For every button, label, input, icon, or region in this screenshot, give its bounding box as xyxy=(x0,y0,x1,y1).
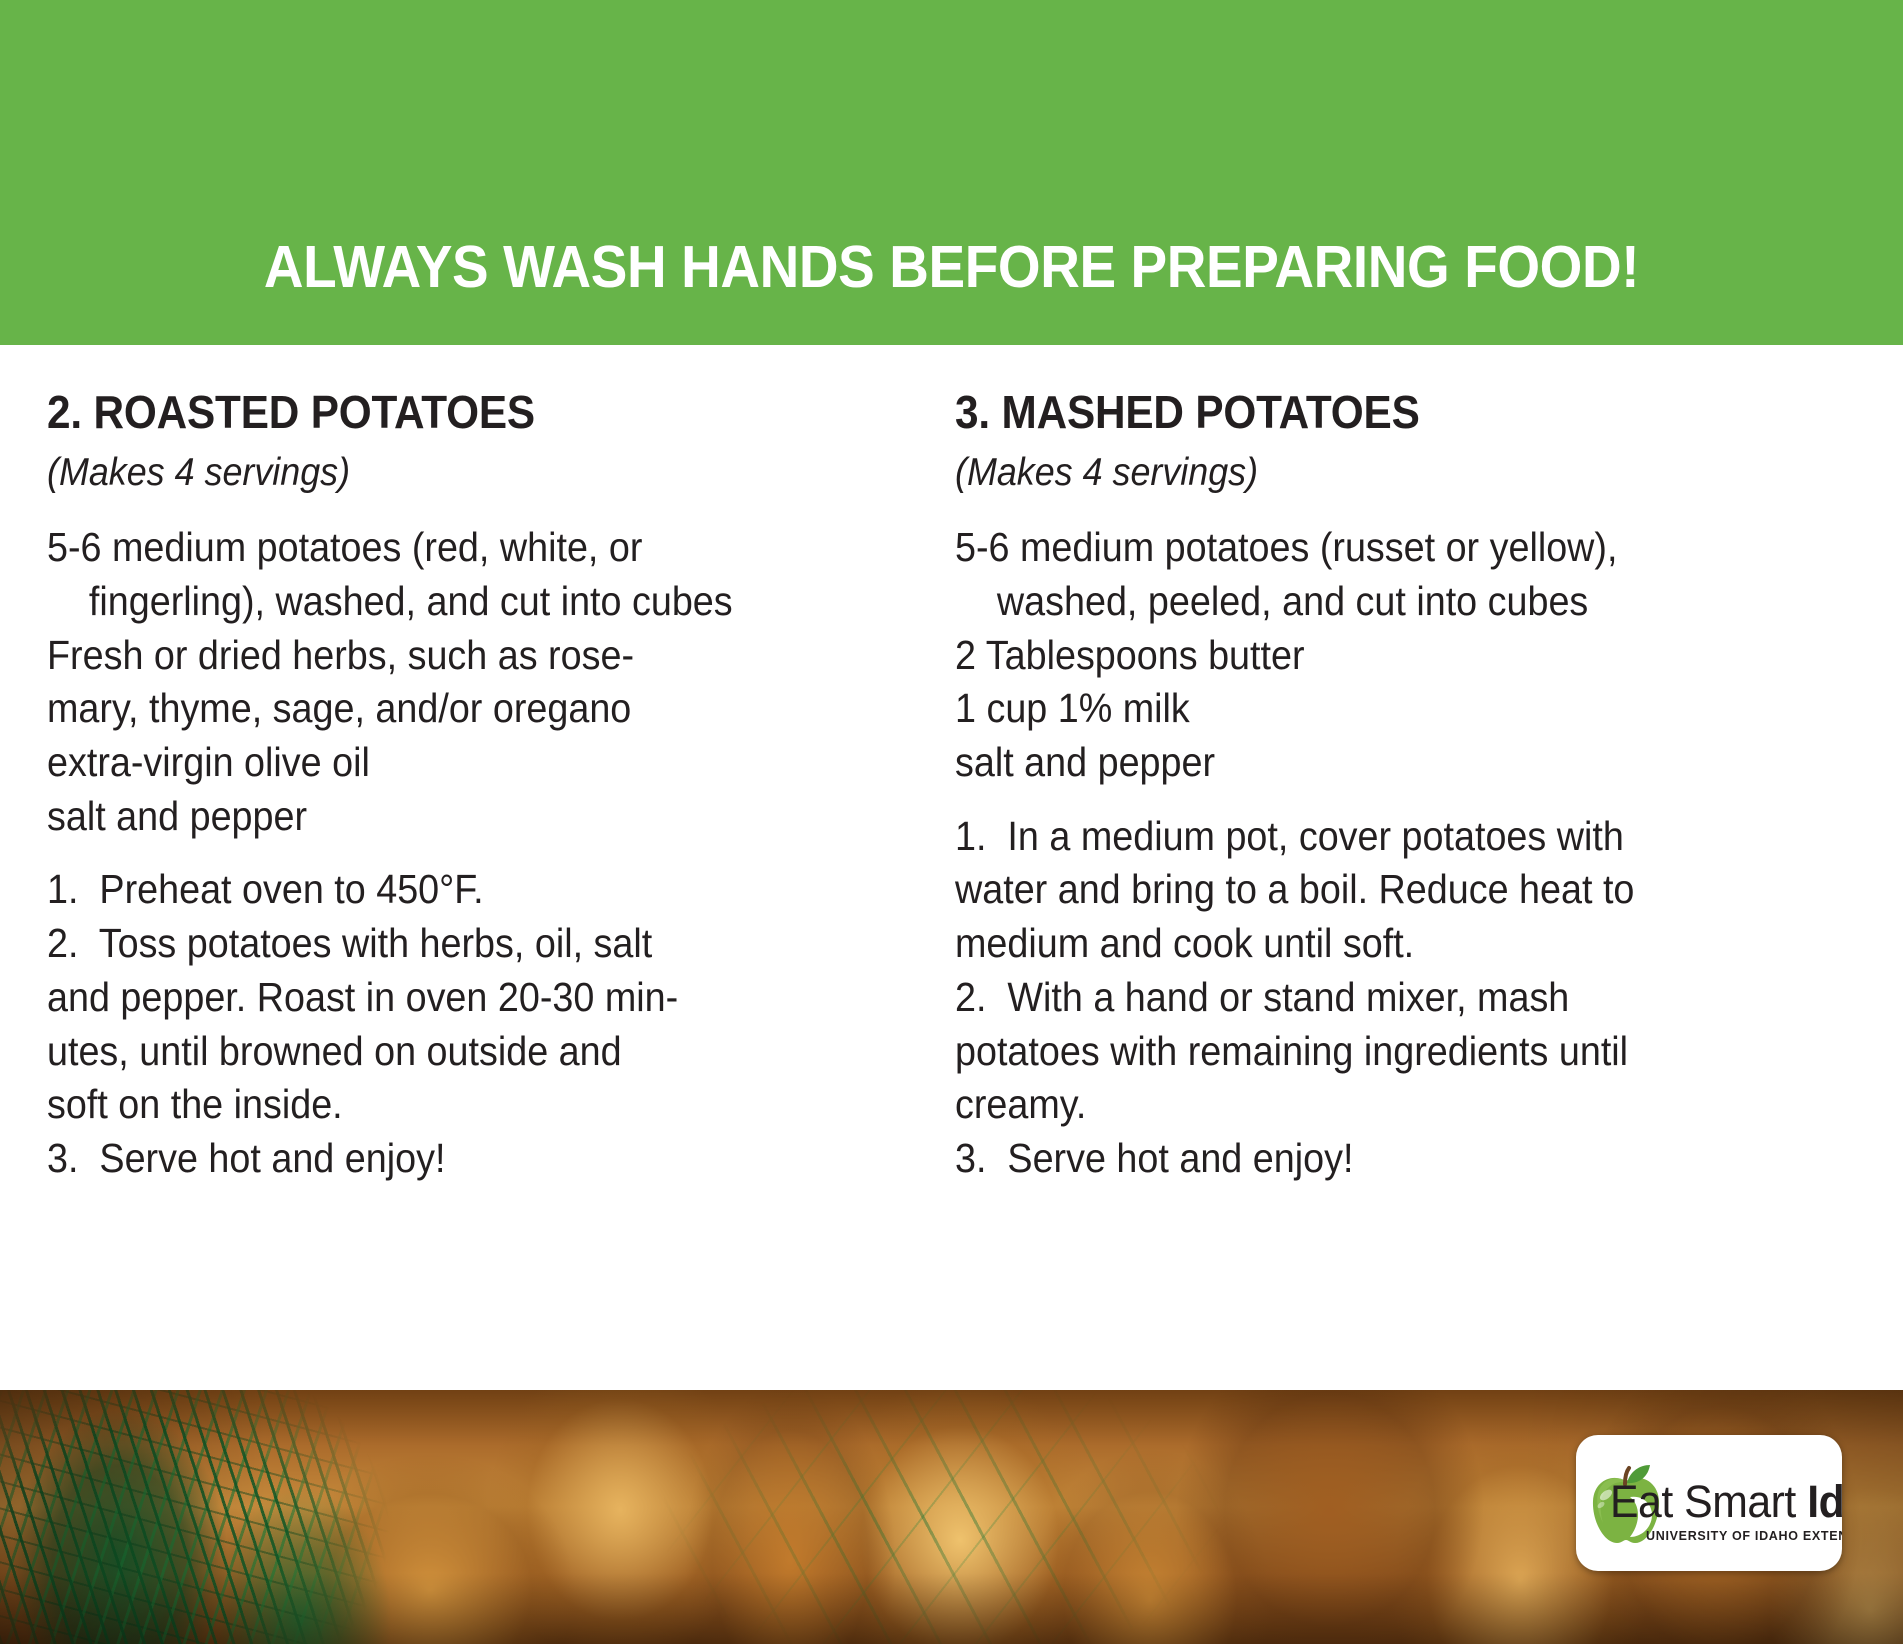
ingredient-list: 5-6 medium potatoes (red, white, or fing… xyxy=(47,521,925,843)
ingredient-line: fingerling), washed, and cut into cubes xyxy=(47,575,925,629)
instruction-line: 3. Serve hot and enjoy! xyxy=(955,1132,1863,1186)
instruction-line: potatoes with remaining ingredients unti… xyxy=(955,1025,1863,1079)
logo-text: Eat Smart Idaho UNIVERSITY OF IDAHO EXTE… xyxy=(1610,1479,1838,1543)
instruction-list: 1. Preheat oven to 450°F. 2. Toss potato… xyxy=(47,863,925,1185)
instruction-line: water and bring to a boil. Reduce heat t… xyxy=(955,863,1863,917)
recipe-servings: (Makes 4 servings) xyxy=(47,452,855,495)
instruction-line: 3. Serve hot and enjoy! xyxy=(47,1132,925,1186)
ingredient-line: Fresh or dried herbs, such as rose- xyxy=(47,629,925,683)
ingredient-line: salt and pepper xyxy=(955,736,1863,790)
logo-word-idaho: Idaho xyxy=(1807,1476,1842,1527)
logo-subtitle: UNIVERSITY OF IDAHO EXTENSION xyxy=(1646,1529,1838,1543)
instruction-line: creamy. xyxy=(955,1078,1863,1132)
recipe-servings: (Makes 4 servings) xyxy=(955,452,1790,495)
instruction-step: 3. Serve hot and enjoy! xyxy=(47,1132,925,1186)
instruction-line: 1. In a medium pot, cover potatoes with xyxy=(955,810,1863,864)
instruction-line: medium and cook until soft. xyxy=(955,917,1863,971)
logo-wordmark: Eat Smart Idaho xyxy=(1610,1479,1827,1524)
ingredient-list: 5-6 medium potatoes (russet or yellow), … xyxy=(955,521,1863,790)
ingredient-line: mary, thyme, sage, and/or oregano xyxy=(47,682,925,736)
instruction-line: 2. With a hand or stand mixer, mash xyxy=(955,971,1863,1025)
instruction-line: utes, until browned on outside and xyxy=(47,1025,925,1079)
ingredient-line: 5-6 medium potatoes (red, white, or xyxy=(47,521,925,575)
ingredient-line: washed, peeled, and cut into cubes xyxy=(955,575,1863,629)
instruction-step: 2. With a hand or stand mixer, mash pota… xyxy=(955,971,1863,1132)
ingredient-line: salt and pepper xyxy=(47,790,925,844)
recipe-title: 3. MASHED POTATOES xyxy=(955,388,1790,436)
instruction-line: 2. Toss potatoes with herbs, oil, salt xyxy=(47,917,925,971)
ingredient-line: 1 cup 1% milk xyxy=(955,682,1863,736)
eat-smart-idaho-logo: Eat Smart Idaho UNIVERSITY OF IDAHO EXTE… xyxy=(1576,1435,1842,1571)
logo-word-smart: Smart xyxy=(1684,1476,1796,1527)
logo-word-eat: Eat xyxy=(1610,1476,1673,1527)
instruction-list: 1. In a medium pot, cover potatoes with … xyxy=(955,810,1863,1186)
ingredient-line: extra-virgin olive oil xyxy=(47,736,925,790)
wash-hands-banner: ALWAYS WASH HANDS BEFORE PREPARING FOOD! xyxy=(0,0,1903,345)
ingredient-line: 2 Tablespoons butter xyxy=(955,629,1863,683)
ingredient-line: 5-6 medium potatoes (russet or yellow), xyxy=(955,521,1863,575)
instruction-line: 1. Preheat oven to 450°F. xyxy=(47,863,925,917)
recipe-column-roasted-potatoes: 2. ROASTED POTATOES (Makes 4 servings) 5… xyxy=(0,345,955,1390)
instruction-line: and pepper. Roast in oven 20-30 min- xyxy=(47,971,925,1025)
recipe-column-mashed-potatoes: 3. MASHED POTATOES (Makes 4 servings) 5-… xyxy=(955,345,1903,1390)
banner-title: ALWAYS WASH HANDS BEFORE PREPARING FOOD! xyxy=(67,238,1837,297)
instruction-step: 3. Serve hot and enjoy! xyxy=(955,1132,1863,1186)
instruction-line: soft on the inside. xyxy=(47,1078,925,1132)
instruction-step: 1. In a medium pot, cover potatoes with … xyxy=(955,810,1863,971)
recipe-card: ALWAYS WASH HANDS BEFORE PREPARING FOOD!… xyxy=(0,0,1903,1644)
recipe-title: 2. ROASTED POTATOES xyxy=(47,388,855,436)
instruction-step: 1. Preheat oven to 450°F. xyxy=(47,863,925,917)
instruction-step: 2. Toss potatoes with herbs, oil, salt a… xyxy=(47,917,925,1132)
recipe-columns: 2. ROASTED POTATOES (Makes 4 servings) 5… xyxy=(0,345,1903,1390)
